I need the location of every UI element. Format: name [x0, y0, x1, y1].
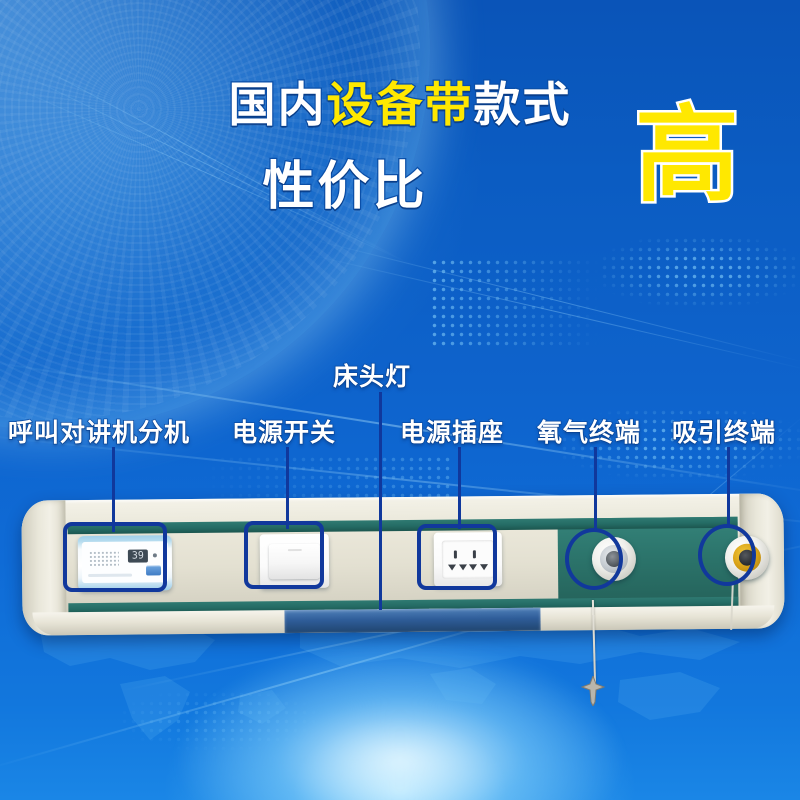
leader-line-suction — [727, 447, 730, 527]
highlight-box-power-socket — [417, 524, 497, 590]
leader-line-power-socket — [458, 447, 461, 529]
halftone-pattern — [600, 236, 800, 306]
halftone-pattern — [120, 690, 320, 750]
headline-accent-gao: 高 — [635, 103, 742, 207]
headline-part-1: 国内 — [229, 78, 327, 133]
highlight-box-oxygen — [565, 528, 623, 590]
poster-canvas: 国内设备带款式 性价比 高 呼叫对讲机分机 电源开关 床头灯 电源插座 氧气终端… — [0, 0, 800, 800]
headline-part-3: 款式 — [474, 78, 572, 133]
headline-part-2: 设备带 — [327, 78, 474, 133]
leader-line-oxygen — [594, 447, 597, 532]
highlight-box-power-switch — [244, 521, 324, 589]
headline-value-text: 性价比 — [262, 161, 427, 213]
callout-label-suction: 吸引终端 — [672, 413, 776, 449]
halftone-pattern — [430, 258, 600, 348]
leader-line-bed-lamp — [379, 392, 382, 610]
callout-label-power-switch: 电源开关 — [232, 413, 336, 449]
headline-block: 国内设备带款式 性价比 高 — [0, 0, 800, 213]
leader-line-power-switch — [286, 447, 289, 529]
highlight-box-suction — [698, 524, 756, 586]
highlight-box-intercom — [63, 522, 167, 592]
headline-line-2: 性价比 高 — [0, 161, 800, 213]
pull-cord-handle[interactable] — [580, 676, 606, 706]
callout-label-intercom: 呼叫对讲机分机 — [8, 413, 190, 449]
callout-label-oxygen: 氧气终端 — [537, 413, 641, 449]
callout-label-bed-lamp: 床头灯 — [333, 357, 411, 393]
leader-line-intercom — [112, 447, 115, 532]
callout-label-power-socket: 电源插座 — [400, 413, 504, 449]
bed-lamp-window[interactable] — [284, 608, 540, 633]
